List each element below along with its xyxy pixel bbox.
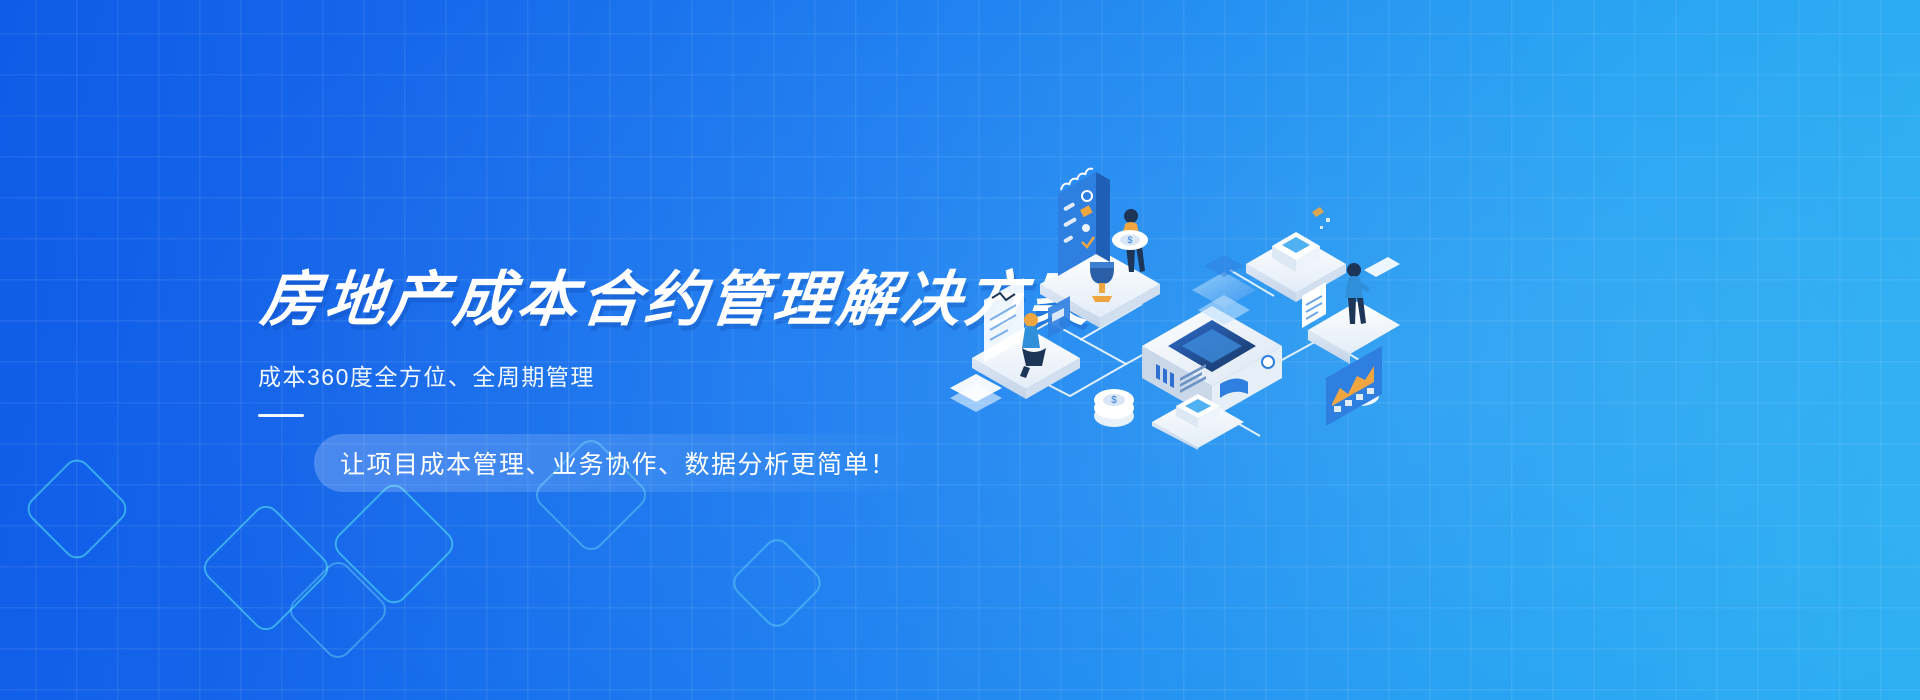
- coin-stack: $: [1112, 230, 1148, 250]
- decor-diamond: [728, 534, 827, 633]
- title-divider: [258, 414, 304, 417]
- tagline-pill: 让项目成本管理、业务协作、数据分析更简单！: [314, 434, 927, 492]
- tagline-text: 让项目成本管理、业务协作、数据分析更简单！: [340, 445, 897, 481]
- banner-subtitle: 成本360度全方位、全周期管理: [258, 358, 1018, 392]
- decor-diamond: [22, 454, 132, 564]
- svg-text:$: $: [1127, 235, 1132, 245]
- coin-stack: $: [1094, 389, 1134, 427]
- hero-banner: 房地产成本合约管理解决方案 成本360度全方位、全周期管理 让项目成本管理、业务…: [0, 0, 1920, 700]
- page-title: 房地产成本合约管理解决方案: [258, 270, 1024, 330]
- hero-illustration: $ $ $: [930, 150, 1400, 450]
- svg-text:$: $: [1111, 395, 1117, 406]
- banner-copy: 房地产成本合约管理解决方案 成本360度全方位、全周期管理 让项目成本管理、业务…: [258, 270, 1018, 417]
